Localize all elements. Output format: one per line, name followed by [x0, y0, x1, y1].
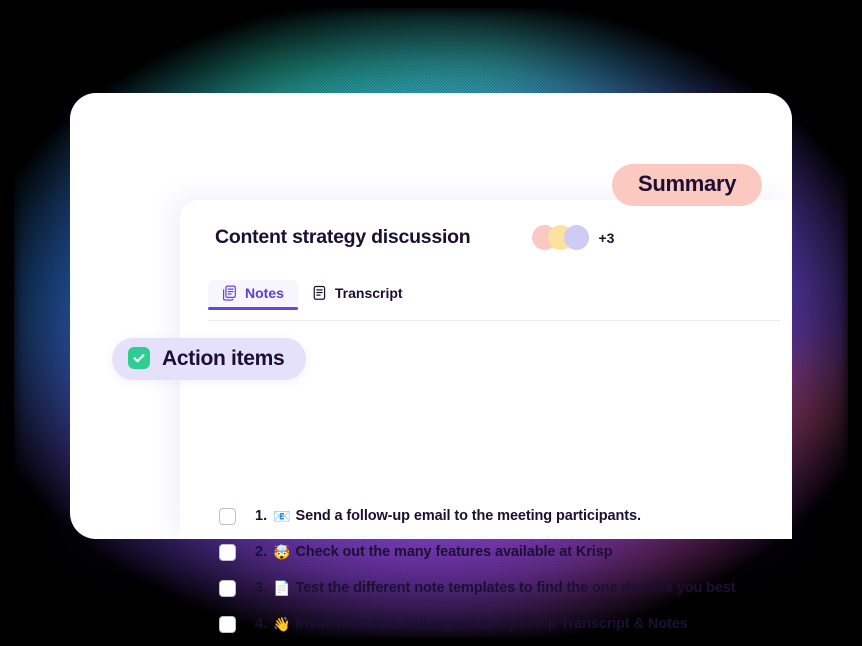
title-row: Content strategy discussion +3 — [215, 225, 768, 250]
transcript-document-icon — [312, 285, 327, 301]
list-item: 1. 📧 Send a follow-up email to the meeti… — [219, 498, 778, 534]
list-item: 4. 👋 Invite friends & colleagues to try … — [219, 606, 778, 642]
action-items-badge-label: Action items — [162, 348, 284, 369]
green-check-icon — [128, 347, 150, 369]
action-item-checkbox[interactable] — [219, 580, 236, 597]
action-item-index: 1. — [255, 508, 267, 524]
app-card: Summary Content strategy discussion +3 — [70, 93, 792, 539]
action-item-text: Check out the many features available at… — [296, 544, 613, 560]
list-item: 3. 📄 Test the different note templates t… — [219, 570, 778, 606]
tab-bar: Notes Transcript — [208, 280, 417, 310]
waving-hand-icon: 👋 — [273, 617, 290, 631]
tab-divider — [208, 320, 780, 321]
screenshot-stage: Summary Content strategy discussion +3 — [0, 0, 862, 646]
notes-stack-icon — [222, 285, 237, 301]
summary-pill[interactable]: Summary — [612, 164, 762, 206]
avatar-group[interactable]: +3 — [532, 225, 614, 250]
action-item-index: 4. — [255, 616, 267, 632]
action-items-list: 1. 📧 Send a follow-up email to the meeti… — [219, 498, 778, 642]
exploding-head-icon: 🤯 — [273, 545, 290, 559]
action-item-checkbox[interactable] — [219, 508, 236, 525]
avatar-stack — [532, 225, 589, 250]
action-items-badge: Action items — [112, 338, 306, 380]
action-item-text: Send a follow-up email to the meeting pa… — [296, 508, 641, 524]
tab-transcript[interactable]: Transcript — [298, 280, 417, 310]
action-item-text: Invite friends & colleagues to try Krisp… — [296, 616, 688, 632]
action-item-checkbox[interactable] — [219, 616, 236, 633]
avatar — [564, 225, 589, 250]
tab-notes[interactable]: Notes — [208, 280, 298, 310]
list-item: 2. 🤯 Check out the many features availab… — [219, 534, 778, 570]
page-icon: 📄 — [273, 581, 290, 595]
action-item-text: Test the different note templates to fin… — [296, 580, 736, 596]
action-item-index: 2. — [255, 544, 267, 560]
action-item-index: 3. — [255, 580, 267, 596]
avatar-overflow-count: +3 — [598, 230, 614, 246]
action-item-checkbox[interactable] — [219, 544, 236, 561]
page-title: Content strategy discussion — [215, 226, 470, 249]
envelope-icon: 📧 — [273, 509, 290, 523]
tab-transcript-label: Transcript — [335, 285, 403, 301]
tab-notes-label: Notes — [245, 285, 284, 301]
